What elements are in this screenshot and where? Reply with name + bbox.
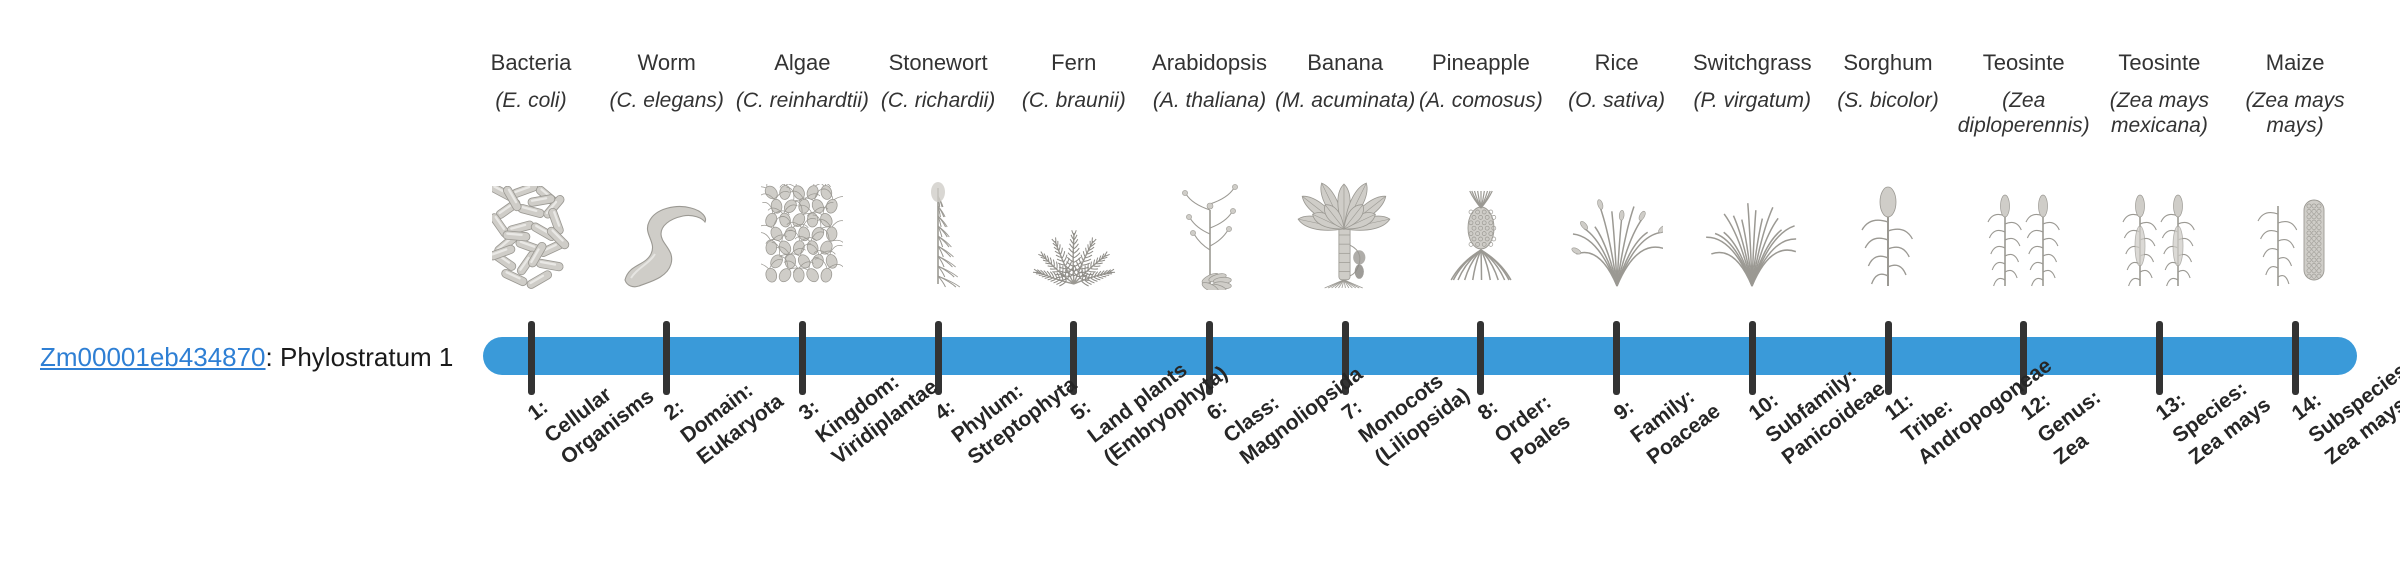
species-common-name: Algae [727, 50, 877, 75]
phylostratum-tick-1 [528, 321, 535, 395]
species-column-rice-9: Rice(O. sativa) [1542, 50, 1692, 114]
species-common-name: Fern [999, 50, 1149, 75]
stonewort-icon [863, 172, 1013, 290]
algae-icon [727, 172, 877, 290]
arabidopsis-icon [1135, 172, 1285, 290]
species-scientific-name: (C. richardii) [863, 89, 1013, 114]
gene-phylostratum-label: Zm00001eb434870: Phylostratum 1 [40, 343, 453, 372]
species-common-name: Teosinte [1949, 50, 2099, 75]
worm-icon [592, 172, 742, 290]
switchgrass-icon [1677, 172, 1827, 290]
species-scientific-name: (C. braunii) [999, 89, 1149, 114]
species-scientific-name: (A. thaliana) [1135, 89, 1285, 114]
rice-icon [1542, 172, 1692, 290]
species-column-pineapple-8: Pineapple(A. comosus) [1406, 50, 1556, 114]
species-scientific-name: (E. coli) [456, 89, 606, 114]
species-common-name: Rice [1542, 50, 1692, 75]
species-column-algae-3: Algae(C. reinhardtii) [727, 50, 877, 114]
species-scientific-name: (S. bicolor) [1813, 89, 1963, 114]
gene-id-link[interactable]: Zm00001eb434870 [40, 342, 266, 372]
species-common-name: Worm [592, 50, 742, 75]
species-column-stonewort-4: Stonewort(C. richardii) [863, 50, 1013, 114]
phylostratigraphy-figure: Zm00001eb434870: Phylostratum 1 Bacteria… [0, 0, 2400, 580]
bacteria-icon [456, 172, 606, 290]
species-column-teosinte-13: Teosinte(Zea mays mexicana) [2084, 50, 2234, 139]
species-column-worm-2: Worm(C. elegans) [592, 50, 742, 114]
banana-icon [1270, 172, 1420, 290]
species-column-fern-5: Fern(C. braunii) [999, 50, 1149, 114]
species-common-name: Maize [2220, 50, 2370, 75]
species-common-name: Stonewort [863, 50, 1013, 75]
gene-phylostratum-text: : Phylostratum 1 [266, 342, 454, 372]
species-column-arabidopsis-6: Arabidopsis(A. thaliana) [1135, 50, 1285, 114]
species-scientific-name: (Zea diploperennis) [1949, 89, 2099, 139]
sorghum-icon [1813, 172, 1963, 290]
species-scientific-name: (Zea mays mays) [2220, 89, 2370, 139]
species-scientific-name: (A. comosus) [1406, 89, 1556, 114]
teosinte-mex-icon [2084, 172, 2234, 290]
species-column-switchgrass-10: Switchgrass(P. virgatum) [1677, 50, 1827, 114]
species-common-name: Sorghum [1813, 50, 1963, 75]
teosinte-diplo-icon [1949, 172, 2099, 290]
species-scientific-name: (Zea mays mexicana) [2084, 89, 2234, 139]
pineapple-icon [1406, 172, 1556, 290]
species-scientific-name: (C. elegans) [592, 89, 742, 114]
species-column-bacteria-1: Bacteria(E. coli) [456, 50, 606, 114]
species-column-banana-7: Banana(M. acuminata) [1270, 50, 1420, 114]
species-common-name: Teosinte [2084, 50, 2234, 75]
species-common-name: Pineapple [1406, 50, 1556, 75]
species-scientific-name: (P. virgatum) [1677, 89, 1827, 114]
species-column-teosinte-12: Teosinte(Zea diploperennis) [1949, 50, 2099, 139]
species-common-name: Arabidopsis [1135, 50, 1285, 75]
species-common-name: Bacteria [456, 50, 606, 75]
species-scientific-name: (O. sativa) [1542, 89, 1692, 114]
species-column-maize-14: Maize(Zea mays mays) [2220, 50, 2370, 139]
species-column-sorghum-11: Sorghum(S. bicolor) [1813, 50, 1963, 114]
species-scientific-name: (C. reinhardtii) [727, 89, 877, 114]
species-common-name: Banana [1270, 50, 1420, 75]
species-scientific-name: (M. acuminata) [1270, 89, 1420, 114]
maize-icon [2220, 172, 2370, 290]
species-common-name: Switchgrass [1677, 50, 1827, 75]
fern-icon [999, 172, 1149, 290]
